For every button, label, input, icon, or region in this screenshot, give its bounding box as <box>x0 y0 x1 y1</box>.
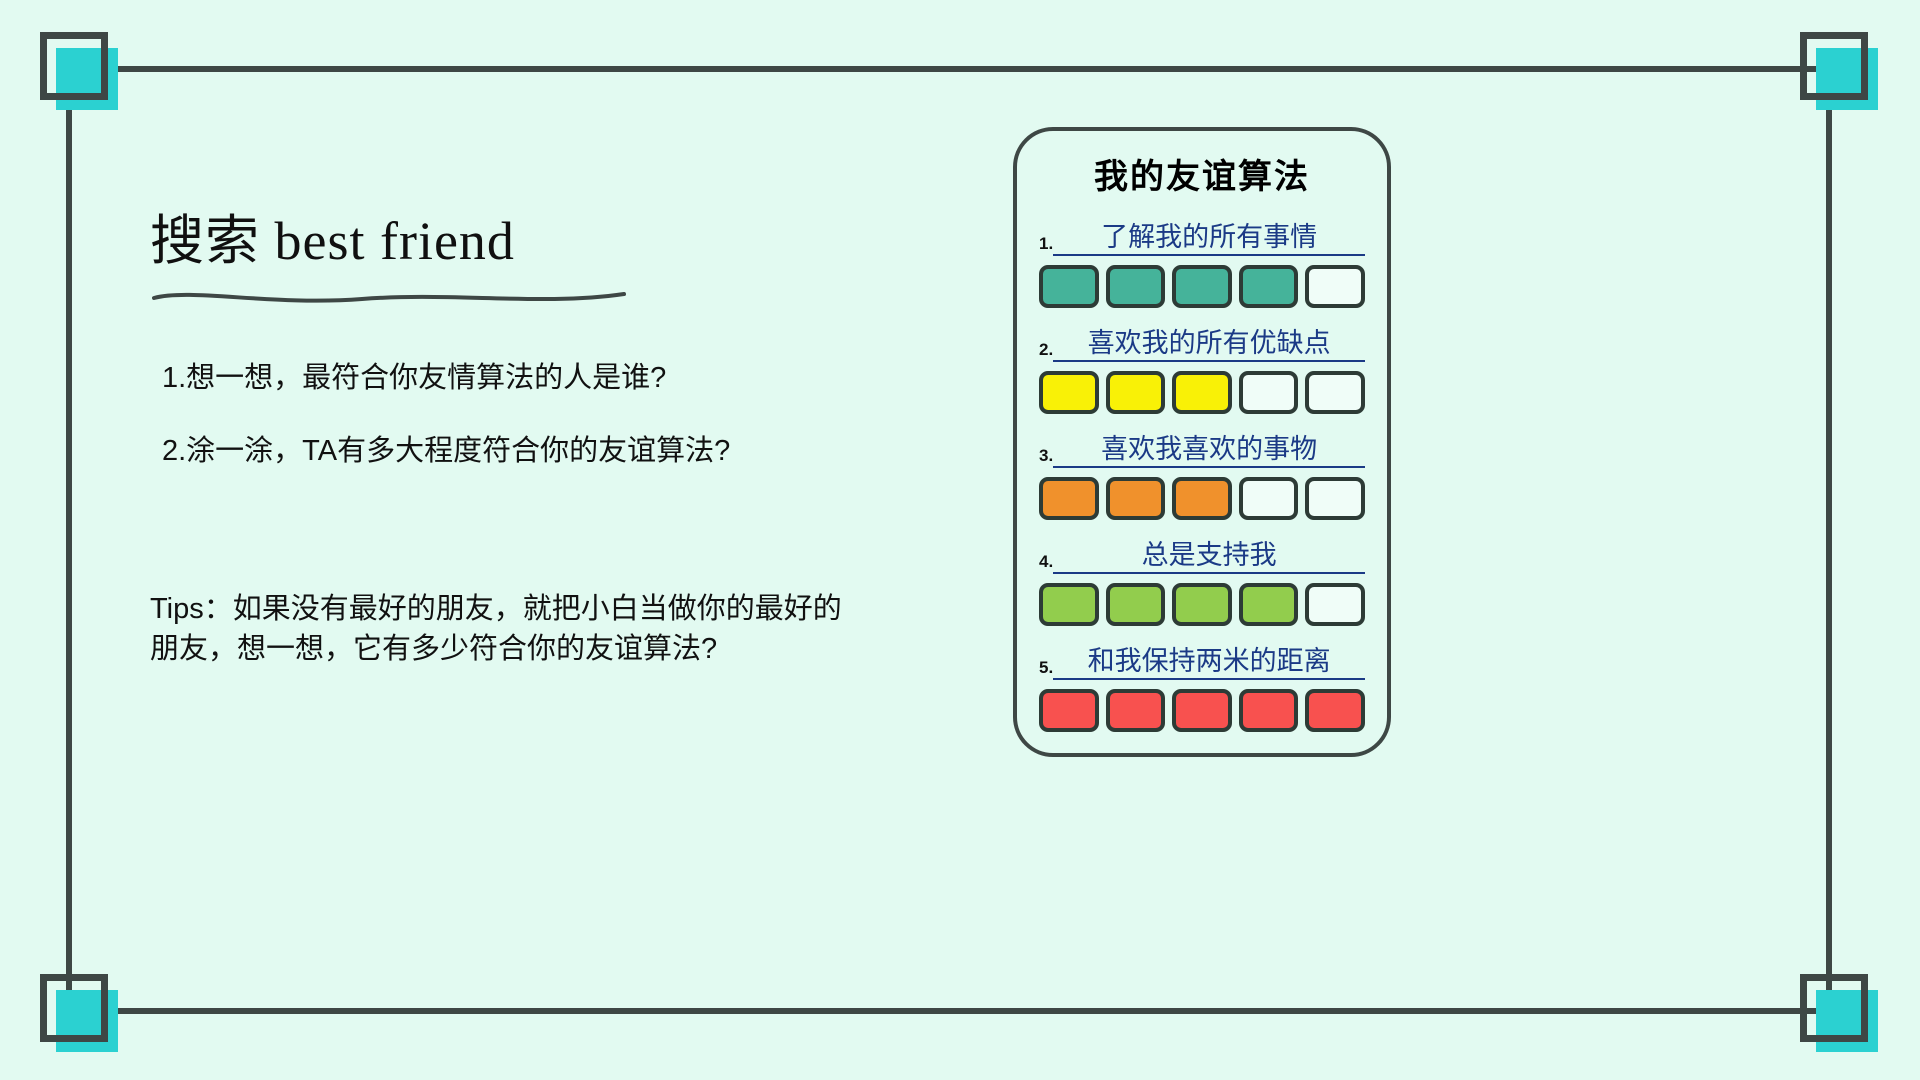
tips-line-1: Tips：如果没有最好的朋友，就把小白当做你的最好的 <box>150 589 910 629</box>
algorithm-label-row: 5. 和我保持两米的距离 <box>1039 640 1365 680</box>
algorithm-item: 5. 和我保持两米的距离 <box>1039 640 1365 732</box>
algorithm-label-row: 2. 喜欢我的所有优缺点 <box>1039 322 1365 362</box>
rating-box[interactable] <box>1239 689 1299 732</box>
rating-box[interactable] <box>1106 689 1166 732</box>
algorithm-item-label: 喜欢我的所有优缺点 <box>1053 328 1365 362</box>
rating-box[interactable] <box>1106 477 1166 520</box>
card-title: 我的友谊算法 <box>1017 149 1387 198</box>
algorithm-item: 4. 总是支持我 <box>1039 534 1365 626</box>
rating-box[interactable] <box>1172 477 1232 520</box>
algorithm-label-row: 1. 了解我的所有事情 <box>1039 216 1365 256</box>
rating-box[interactable] <box>1239 371 1299 414</box>
corner-square-outline <box>40 32 108 100</box>
frame-line-right <box>1826 92 1832 1012</box>
frame-line-left <box>66 92 72 1012</box>
algorithm-item: 3. 喜欢我喜欢的事物 <box>1039 428 1365 520</box>
corner-marker-bottom-right <box>1800 974 1878 1052</box>
algorithm-item-label: 总是支持我 <box>1053 540 1365 574</box>
rating-box-row[interactable] <box>1039 689 1365 732</box>
corner-square-outline <box>1800 32 1868 100</box>
rating-box-row[interactable] <box>1039 371 1365 414</box>
rating-box[interactable] <box>1172 371 1232 414</box>
corner-marker-top-left <box>40 32 118 110</box>
rating-box[interactable] <box>1305 371 1365 414</box>
rating-box[interactable] <box>1172 689 1232 732</box>
rating-box-row[interactable] <box>1039 583 1365 626</box>
rating-box[interactable] <box>1172 265 1232 308</box>
rating-box[interactable] <box>1106 371 1166 414</box>
friendship-algorithm-card: 我的友谊算法 1. 了解我的所有事情 2. 喜欢我的所有优缺点 <box>1013 127 1391 757</box>
rating-box[interactable] <box>1239 583 1299 626</box>
algorithm-label-row: 3. 喜欢我喜欢的事物 <box>1039 428 1365 468</box>
rating-box[interactable] <box>1106 583 1166 626</box>
algorithm-item-label: 和我保持两米的距离 <box>1053 646 1365 680</box>
rating-box[interactable] <box>1039 477 1099 520</box>
rating-box[interactable] <box>1172 583 1232 626</box>
page-title: 搜索 best friend <box>150 210 910 272</box>
rating-box[interactable] <box>1305 689 1365 732</box>
frame-line-bottom <box>92 1008 1832 1014</box>
bullet-list: 1.想一想，最符合你友情算法的人是谁? 2.涂一涂，TA有多大程度符合你的友谊算… <box>150 359 910 471</box>
corner-square-outline <box>1800 974 1868 1042</box>
rating-box[interactable] <box>1039 583 1099 626</box>
algorithm-item: 2. 喜欢我的所有优缺点 <box>1039 322 1365 414</box>
algorithm-item-label: 了解我的所有事情 <box>1053 222 1365 256</box>
algorithm-item-number: 1. <box>1039 235 1053 256</box>
algorithm-item-number: 4. <box>1039 553 1053 574</box>
rating-box[interactable] <box>1039 371 1099 414</box>
algorithm-item: 1. 了解我的所有事情 <box>1039 216 1365 308</box>
rating-box[interactable] <box>1239 265 1299 308</box>
rating-box[interactable] <box>1305 583 1365 626</box>
corner-marker-bottom-left <box>40 974 118 1052</box>
algorithm-item-number: 5. <box>1039 659 1053 680</box>
frame-line-top <box>92 66 1832 72</box>
corner-marker-top-right <box>1800 32 1878 110</box>
algorithm-item-number: 3. <box>1039 447 1053 468</box>
rating-box-row[interactable] <box>1039 265 1365 308</box>
rating-box[interactable] <box>1106 265 1166 308</box>
corner-square-outline <box>40 974 108 1042</box>
rating-box-row[interactable] <box>1039 477 1365 520</box>
rating-box[interactable] <box>1039 689 1099 732</box>
left-content-column: 搜索 best friend 1.想一想，最符合你友情算法的人是谁? 2.涂一涂… <box>150 210 910 669</box>
rating-box[interactable] <box>1239 477 1299 520</box>
title-underline-squiggle <box>152 286 632 312</box>
algorithm-label-row: 4. 总是支持我 <box>1039 534 1365 574</box>
algorithm-item-number: 2. <box>1039 341 1053 362</box>
slide-canvas: 搜索 best friend 1.想一想，最符合你友情算法的人是谁? 2.涂一涂… <box>0 0 1920 1080</box>
algorithm-item-label: 喜欢我喜欢的事物 <box>1053 434 1365 468</box>
rating-box[interactable] <box>1305 265 1365 308</box>
tips-block: Tips：如果没有最好的朋友，就把小白当做你的最好的 朋友，想一想，它有多少符合… <box>150 589 910 669</box>
algorithm-item-list: 1. 了解我的所有事情 2. 喜欢我的所有优缺点 <box>1017 216 1387 732</box>
rating-box[interactable] <box>1039 265 1099 308</box>
bullet-item-2: 2.涂一涂，TA有多大程度符合你的友谊算法? <box>150 432 910 471</box>
rating-box[interactable] <box>1305 477 1365 520</box>
bullet-item-1: 1.想一想，最符合你友情算法的人是谁? <box>150 359 910 398</box>
tips-line-2: 朋友，想一想，它有多少符合你的友谊算法? <box>150 629 910 669</box>
